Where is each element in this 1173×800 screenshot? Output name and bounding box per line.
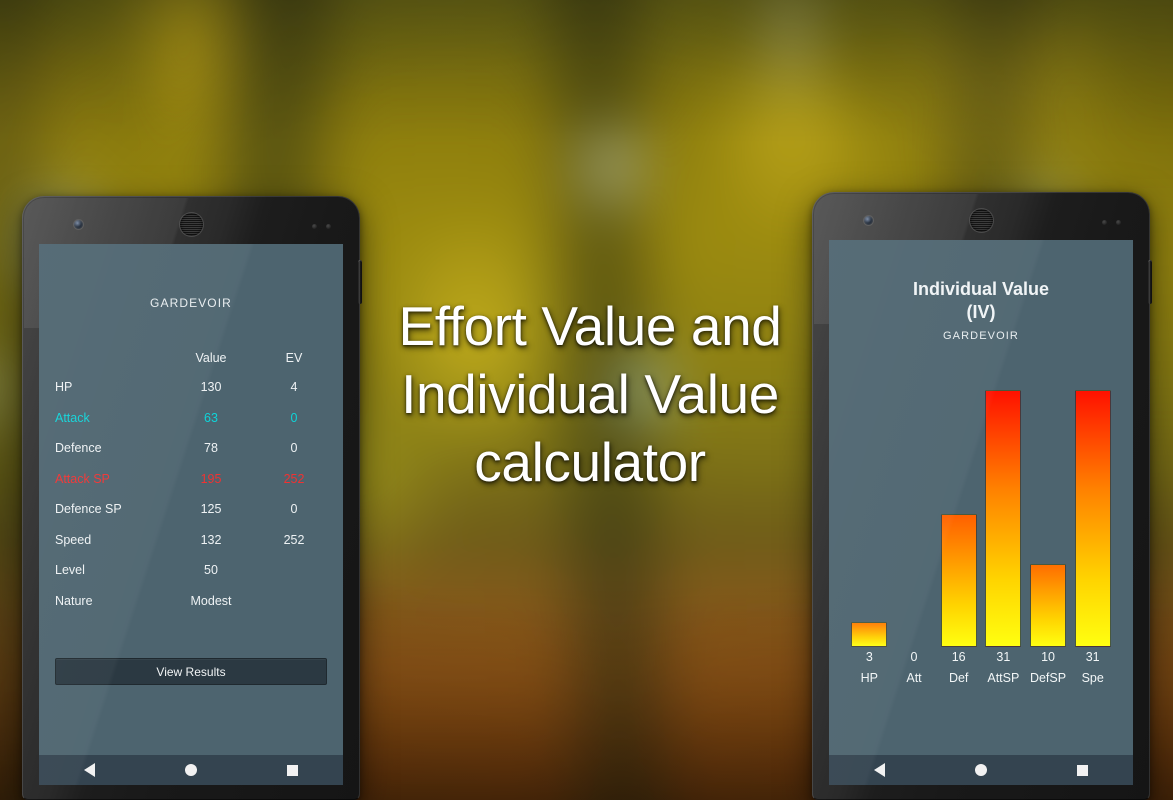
right-android-navbar xyxy=(829,755,1133,785)
headline-line-1: Effort Value and xyxy=(355,292,825,360)
iv-chart-header: Individual Value (IV) GARDEVOIR xyxy=(829,278,1133,342)
iv-category-hp: HP xyxy=(847,667,892,689)
ev-row-ev: 252 xyxy=(259,472,329,486)
iv-value-attsp: 31 xyxy=(981,647,1026,667)
ev-table-header-row: Value EV xyxy=(55,344,329,372)
ev-row-value: 132 xyxy=(163,533,259,547)
earpiece-speaker-icon xyxy=(180,213,203,236)
recents-square-icon[interactable] xyxy=(1077,765,1088,776)
axis-label-att: 0 Att xyxy=(892,647,937,693)
right-phone-mockup: Individual Value (IV) GARDEVOIR xyxy=(812,192,1150,800)
left-android-navbar xyxy=(39,755,343,785)
iv-pokemon-name: GARDEVOIR xyxy=(829,330,1133,342)
front-camera-icon xyxy=(864,216,873,225)
iv-title-line-1: Individual Value xyxy=(829,278,1133,301)
table-row[interactable]: Attack SP 195 252 xyxy=(55,464,329,495)
table-row[interactable]: Attack 63 0 xyxy=(55,403,329,434)
front-camera-icon xyxy=(74,220,83,229)
table-row[interactable]: Nature Modest xyxy=(55,586,329,617)
ev-table-spacer xyxy=(39,616,343,640)
ev-stats-table: Value EV HP 130 4 Attack 63 0 Defen xyxy=(39,344,343,616)
ev-row-value: 130 xyxy=(163,380,259,394)
iv-bar-spe[interactable] xyxy=(1075,390,1111,647)
view-results-button-label: View Results xyxy=(156,665,225,679)
ev-row-label: Level xyxy=(55,563,163,577)
iv-bar-attsp[interactable] xyxy=(985,390,1021,647)
iv-chart-plot-area xyxy=(847,390,1115,647)
ev-row-label: Defence xyxy=(55,441,163,455)
bar-slot-defsp xyxy=(1026,390,1071,647)
table-row[interactable]: Defence SP 125 0 xyxy=(55,494,329,525)
iv-value-defsp: 10 xyxy=(1026,647,1071,667)
ev-row-ev: 252 xyxy=(259,533,329,547)
ev-row-label: HP xyxy=(55,380,163,394)
iv-bar-hp[interactable] xyxy=(851,622,887,647)
table-row[interactable]: HP 130 4 xyxy=(55,372,329,403)
iv-category-att: Att xyxy=(892,667,937,689)
ev-header-value: Value xyxy=(163,351,259,365)
iv-title-line-2: (IV) xyxy=(829,301,1133,324)
proximity-sensor-icon xyxy=(1102,220,1107,225)
bar-slot-spe xyxy=(1070,390,1115,647)
home-circle-icon[interactable] xyxy=(185,764,197,776)
ev-row-label: Attack SP xyxy=(55,472,163,486)
iv-bar-def[interactable] xyxy=(941,514,977,647)
back-triangle-icon[interactable] xyxy=(874,763,885,777)
headline-line-3: calculator xyxy=(355,428,825,496)
ev-row-ev: 4 xyxy=(259,380,329,394)
left-phone-screen: GARDEVOIR Value EV HP 130 4 Attack xyxy=(39,244,343,785)
table-row[interactable]: Defence 78 0 xyxy=(55,433,329,464)
promo-headline: Effort Value and Individual Value calcul… xyxy=(355,292,825,496)
ev-row-label: Nature xyxy=(55,594,163,608)
iv-category-spe: Spe xyxy=(1070,667,1115,689)
left-phone-mockup: GARDEVOIR Value EV HP 130 4 Attack xyxy=(22,196,360,800)
ev-row-label: Speed xyxy=(55,533,163,547)
right-phone-power-button[interactable] xyxy=(1148,260,1152,304)
bar-slot-att xyxy=(892,390,937,647)
ev-row-ev: 0 xyxy=(259,441,329,455)
earpiece-speaker-icon xyxy=(970,209,993,232)
bar-slot-def xyxy=(936,390,981,647)
ev-row-label: Defence SP xyxy=(55,502,163,516)
iv-chart-app: Individual Value (IV) GARDEVOIR xyxy=(829,240,1133,755)
iv-bar-chart: 3 HP 0 Att 16 Def 31 Att xyxy=(847,390,1115,693)
iv-category-def: Def xyxy=(936,667,981,689)
light-sensor-icon xyxy=(1116,220,1121,225)
axis-label-def: 16 Def xyxy=(936,647,981,693)
ev-row-ev: 0 xyxy=(259,502,329,516)
recents-square-icon[interactable] xyxy=(287,765,298,776)
view-results-button[interactable]: View Results xyxy=(55,658,327,685)
home-circle-icon[interactable] xyxy=(975,764,987,776)
iv-category-defsp: DefSP xyxy=(1026,667,1071,689)
ev-row-value: 50 xyxy=(163,563,259,577)
ev-row-value: 63 xyxy=(163,411,259,425)
iv-value-att: 0 xyxy=(892,647,937,667)
ev-row-value: 125 xyxy=(163,502,259,516)
iv-chart-axis-labels: 3 HP 0 Att 16 Def 31 Att xyxy=(847,647,1115,693)
ev-row-value: Modest xyxy=(163,594,259,608)
iv-bar-defsp[interactable] xyxy=(1030,564,1066,647)
back-triangle-icon[interactable] xyxy=(84,763,95,777)
iv-value-hp: 3 xyxy=(847,647,892,667)
axis-label-defsp: 10 DefSP xyxy=(1026,647,1071,693)
axis-label-hp: 3 HP xyxy=(847,647,892,693)
axis-label-spe: 31 Spe xyxy=(1070,647,1115,693)
bar-slot-hp xyxy=(847,390,892,647)
ev-row-value: 78 xyxy=(163,441,259,455)
ev-calculator-app: GARDEVOIR Value EV HP 130 4 Attack xyxy=(39,244,343,755)
ev-row-ev: 0 xyxy=(259,411,329,425)
ev-row-label: Attack xyxy=(55,411,163,425)
table-row[interactable]: Level 50 xyxy=(55,555,329,586)
axis-label-attsp: 31 AttSP xyxy=(981,647,1026,693)
iv-value-def: 16 xyxy=(936,647,981,667)
table-row[interactable]: Speed 132 252 xyxy=(55,525,329,556)
ev-app-pokemon-name: GARDEVOIR xyxy=(39,296,343,310)
light-sensor-icon xyxy=(326,224,331,229)
ev-row-value: 195 xyxy=(163,472,259,486)
right-phone-screen: Individual Value (IV) GARDEVOIR xyxy=(829,240,1133,785)
iv-value-spe: 31 xyxy=(1070,647,1115,667)
proximity-sensor-icon xyxy=(312,224,317,229)
bar-slot-attsp xyxy=(981,390,1026,647)
promo-screenshot: GARDEVOIR Value EV HP 130 4 Attack xyxy=(0,0,1173,800)
iv-category-attsp: AttSP xyxy=(981,667,1026,689)
ev-header-ev: EV xyxy=(259,351,329,365)
headline-line-2: Individual Value xyxy=(355,360,825,428)
